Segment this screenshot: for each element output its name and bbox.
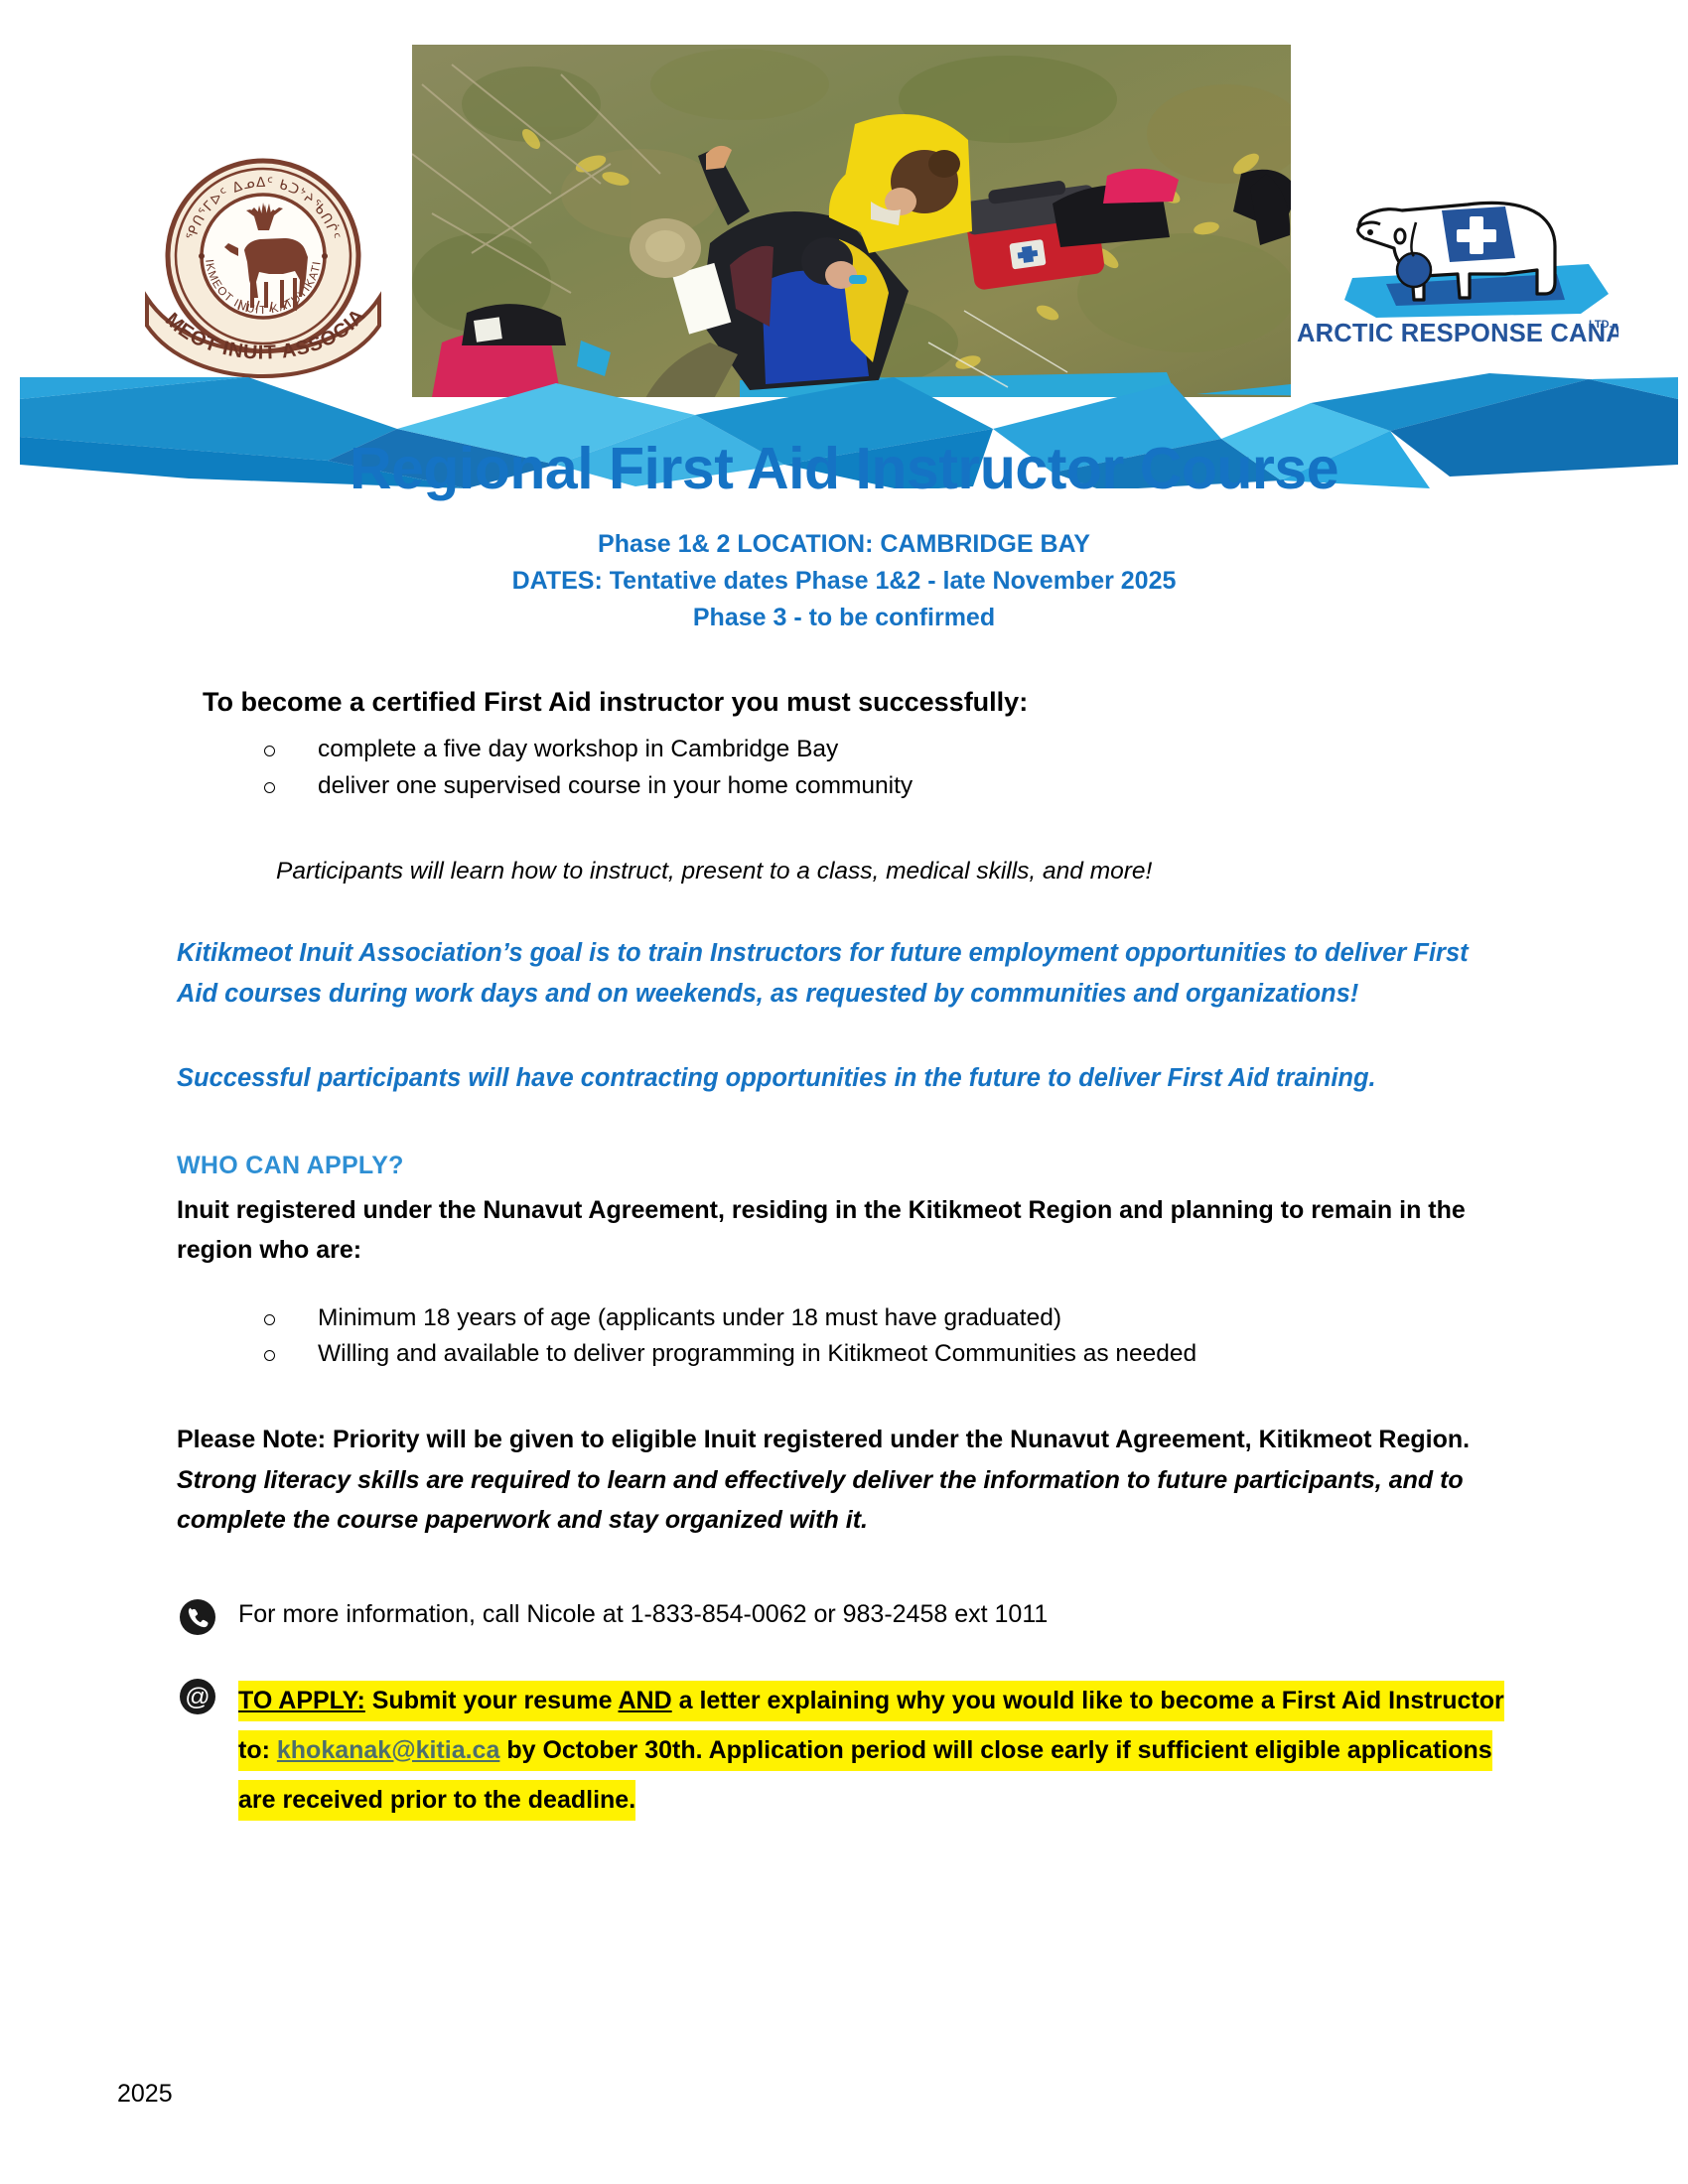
course-photo [412, 45, 1291, 397]
apply-row: @ TO APPLY: Submit your resume AND a let… [179, 1676, 1504, 1825]
requirements-heading: To become a certified First Aid instruct… [203, 687, 1504, 718]
list-item: Minimum 18 years of age (applicants unde… [252, 1300, 1504, 1336]
phone-line: For more information, call Nicole at 1-8… [238, 1596, 1048, 1627]
please-note-italic: Strong literacy skills are required to l… [177, 1466, 1464, 1535]
who-can-apply-intro: Inuit registered under the Nunavut Agree… [177, 1190, 1504, 1271]
arctic-response-wordmark: ARCTIC RESPONSE CANADA [1297, 320, 1618, 347]
goal-paragraph-2: Successful participants will have contra… [177, 1058, 1504, 1099]
subtitle-location: Phase 1& 2 LOCATION: CAMBRIDGE BAY [0, 526, 1688, 563]
who-can-apply-list: Minimum 18 years of age (applicants unde… [177, 1300, 1504, 1373]
apply-and-emphasis: AND [619, 1687, 672, 1714]
arctic-response-canada-logo: ARCTIC RESPONSE CANADA LTD. [1291, 149, 1618, 347]
body-content: To become a certified First Aid instruct… [0, 687, 1688, 1824]
list-item: deliver one supervised course in your ho… [252, 768, 1504, 804]
contact-section: For more information, call Nicole at 1-8… [177, 1596, 1504, 1825]
kitikmeot-inuit-association-logo: ᕿᑎᕐᒥᐅᑦ ᐃᓄᐃᑦ ᑲᑐᔾᔨᖃᑎᒌᑦ KITIKMEOT INUIT KAT… [139, 139, 387, 387]
svg-text:@: @ [185, 1683, 210, 1710]
footer-year: 2025 [117, 2080, 173, 2109]
who-can-apply-heading: WHO CAN APPLY? [177, 1152, 1504, 1180]
apply-email-link[interactable]: khokanak@kitia.ca [277, 1736, 500, 1764]
please-note-bold: Please Note: Priority will be given to e… [177, 1426, 1470, 1453]
phone-icon [179, 1598, 216, 1636]
page-title: Regional First Aid Instructor Course [0, 435, 1688, 502]
at-sign-icon: @ [179, 1678, 216, 1715]
subtitle-block: Phase 1& 2 LOCATION: CAMBRIDGE BAY DATES… [0, 526, 1688, 635]
list-item: Willing and available to deliver program… [252, 1336, 1504, 1372]
apply-label: TO APPLY: [238, 1687, 365, 1714]
arctic-response-ltd-suffix: LTD. [1589, 319, 1613, 331]
apply-text-1: Submit your resume [365, 1687, 619, 1714]
header: ᕿᑎᕐᒥᐅᑦ ᐃᓄᐃᑦ ᑲᑐᔾᔨᖃᑎᒌᑦ KITIKMEOT INUIT KAT… [0, 0, 1688, 417]
requirements-note: Participants will learn how to instruct,… [276, 858, 1504, 886]
goal-paragraph-1: Kitikmeot Inuit Association’s goal is to… [177, 933, 1504, 1016]
phone-row: For more information, call Nicole at 1-8… [179, 1596, 1504, 1636]
subtitle-phase3: Phase 3 - to be confirmed [0, 600, 1688, 636]
subtitle-dates: DATES: Tentative dates Phase 1&2 - late … [0, 563, 1688, 600]
please-note-paragraph: Please Note: Priority will be given to e… [177, 1420, 1504, 1541]
requirements-list: complete a five day workshop in Cambridg… [177, 732, 1504, 804]
apply-instructions: TO APPLY: Submit your resume AND a lette… [238, 1676, 1504, 1825]
poster-page: ᕿᑎᕐᒥᐅᑦ ᐃᓄᐃᑦ ᑲᑐᔾᔨᖃᑎᒌᑦ KITIKMEOT INUIT KAT… [0, 0, 1688, 2184]
list-item: complete a five day workshop in Cambridg… [252, 732, 1504, 767]
